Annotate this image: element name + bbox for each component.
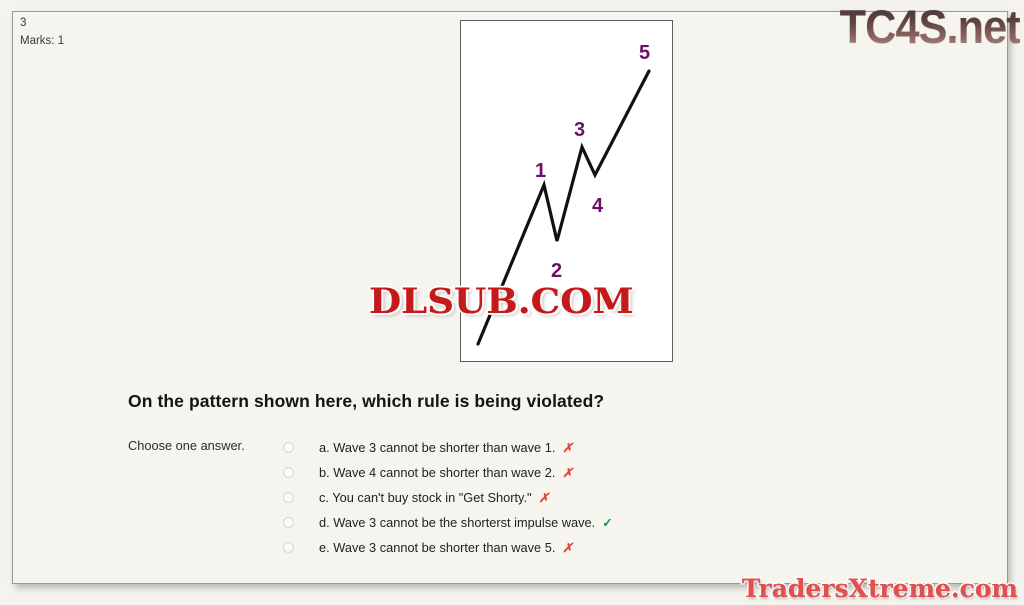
wave-label-3: 3 (574, 119, 585, 141)
radio-button-c[interactable] (283, 492, 294, 503)
page-title: On the pattern shown here, which rule is… (128, 391, 604, 412)
answer-option-c[interactable]: c. You can't buy stock in "Get Shorty."✗ (283, 485, 683, 510)
answer-label-c: c. You can't buy stock in "Get Shorty." (319, 490, 532, 505)
wave-label-2: 2 (551, 260, 562, 282)
answer-option-a[interactable]: a. Wave 3 cannot be shorter than wave 1.… (283, 435, 683, 460)
answer-option-b[interactable]: b. Wave 4 cannot be shorter than wave 2.… (283, 460, 683, 485)
answer-label-b: b. Wave 4 cannot be shorter than wave 2. (319, 465, 555, 480)
watermark-tc4s: TC4S.net (840, 0, 1020, 54)
radio-button-e[interactable] (283, 542, 294, 553)
wave-number-labels: 12345 (535, 42, 650, 282)
question-marks: Marks: 1 (20, 33, 144, 51)
radio-button-b[interactable] (283, 467, 294, 478)
wave-label-5: 5 (639, 42, 650, 64)
radio-button-d[interactable] (283, 517, 294, 528)
answer-label-a: a. Wave 3 cannot be shorter than wave 1. (319, 440, 555, 455)
answer-option-e[interactable]: e. Wave 3 cannot be shorter than wave 5.… (283, 535, 683, 560)
radio-button-a[interactable] (283, 442, 294, 453)
incorrect-cross-icon: ✗ (562, 440, 572, 455)
incorrect-cross-icon: ✗ (539, 490, 549, 505)
choose-one-answer-label: Choose one answer. (128, 438, 245, 453)
question-header: 3 Marks: 1 (12, 11, 152, 57)
watermark-tradersxtreme: TradersXtreme.com (742, 574, 1018, 603)
watermark-dlsub: DLSUB.COM (369, 281, 634, 322)
wave-label-4: 4 (592, 195, 604, 217)
question-number: 3 (20, 15, 144, 33)
answer-label-e: e. Wave 3 cannot be shorter than wave 5. (319, 540, 555, 555)
incorrect-cross-icon: ✗ (562, 540, 572, 555)
wave-label-1: 1 (535, 160, 546, 182)
incorrect-cross-icon: ✗ (562, 465, 572, 480)
correct-check-icon: ✓ (602, 515, 612, 530)
answer-option-list: a. Wave 3 cannot be shorter than wave 1.… (283, 435, 683, 560)
answer-label-d: d. Wave 3 cannot be the shorterst impuls… (319, 515, 595, 530)
answer-option-d[interactable]: d. Wave 3 cannot be the shorterst impuls… (283, 510, 683, 535)
